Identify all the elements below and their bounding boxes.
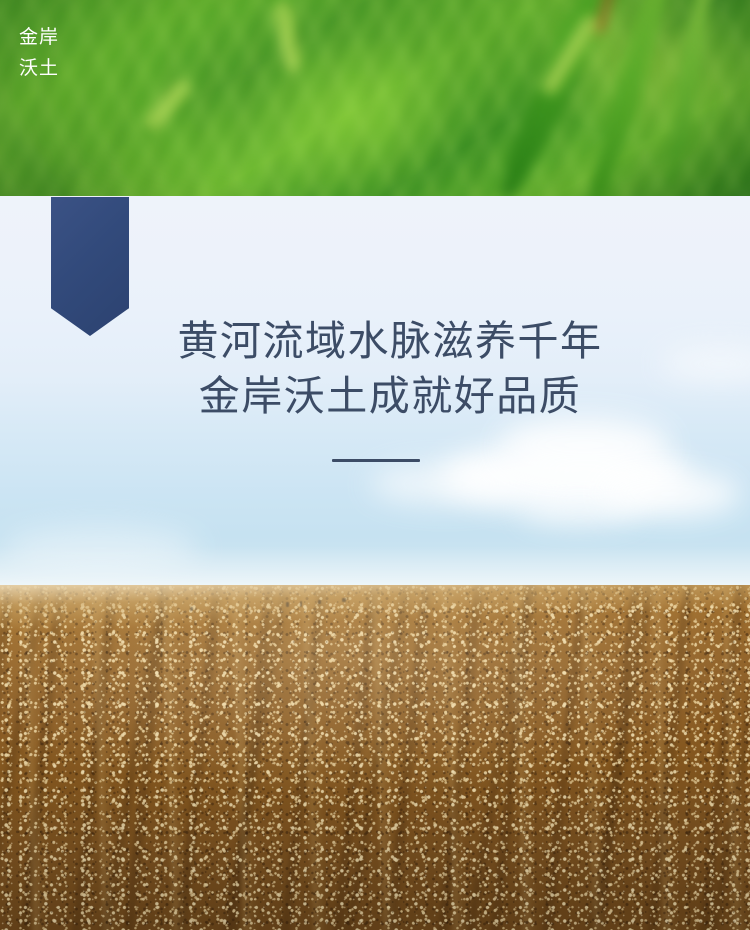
cloud-shape [370, 464, 520, 504]
cloud-shape [520, 496, 640, 526]
product-detail-banner: 金岸 沃土 黄河流域水脉滋养千年 金岸沃土成就好品质 [0, 0, 750, 930]
brand-ribbon-badge [51, 197, 129, 336]
brand-ribbon-line-1: 金岸 [0, 22, 78, 53]
green-wheat-photo [0, 0, 750, 196]
headline: 黄河流域水脉滋养千年 金岸沃土成就好品质 [130, 314, 650, 424]
cloud-shape [500, 416, 670, 474]
field-shading [0, 585, 750, 930]
plowed-soil-field [0, 585, 750, 930]
brand-ribbon-line-2: 沃土 [0, 53, 78, 84]
cloud-shape [660, 346, 750, 382]
brand-ribbon-label: 金岸 沃土 [0, 22, 78, 84]
headline-line-2: 金岸沃土成就好品质 [130, 369, 650, 424]
wheat-vignette [0, 0, 750, 196]
headline-divider [332, 459, 420, 462]
headline-line-1: 黄河流域水脉滋养千年 [130, 314, 650, 369]
